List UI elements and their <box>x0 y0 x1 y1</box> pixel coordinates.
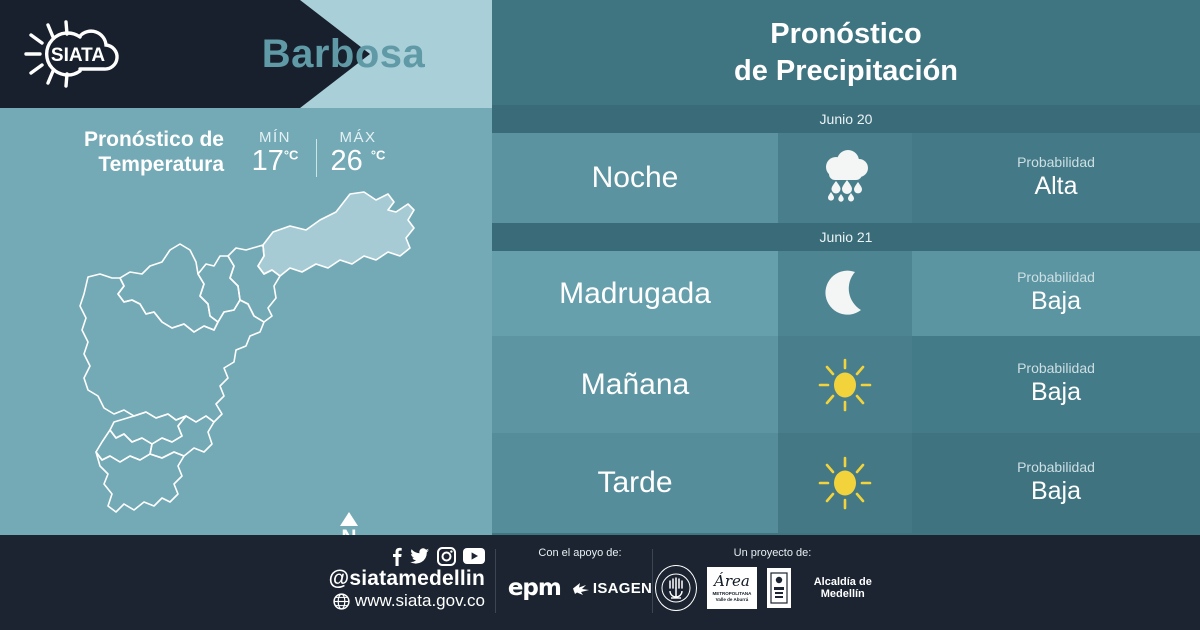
temperature-values: MÍN 17°C MÁX 26 °C <box>238 129 395 177</box>
rain-cloud-icon <box>814 147 876 209</box>
temperature-max-value: 26 °C <box>331 146 386 176</box>
temperature-min-value: 17°C <box>252 146 299 176</box>
temperature-min-unit: °C <box>284 147 299 162</box>
support-logos: epm ISAGEN <box>505 575 655 601</box>
footer-divider-1 <box>495 549 496 613</box>
probability-value: Baja <box>1031 286 1081 317</box>
map-region-n3 <box>118 244 218 332</box>
social-block: @siatamedellin www.siata.gov.co <box>300 545 485 612</box>
project-logos: Área METROPOLITANA Valle de Aburrá <box>655 565 890 611</box>
forecast-header: Pronóstico de Precipitación <box>492 0 1200 105</box>
area-sub-text: METROPOLITANA Valle de Aburrá <box>712 591 751 602</box>
globe-icon <box>333 593 350 610</box>
compass-arrow <box>340 512 358 526</box>
left-panel: SIATA Barbosa Pronóstico de Temperatura … <box>0 0 492 535</box>
seal-emblem-icon <box>659 571 693 605</box>
temperature-min: MÍN 17°C <box>238 129 312 176</box>
map-region-s3 <box>150 416 214 458</box>
forecast-row: Noche <box>492 133 1200 223</box>
twitter-icon[interactable] <box>410 546 430 566</box>
alcaldia-emblem-icon <box>769 571 789 605</box>
isagen-logo: ISAGEN <box>573 580 652 597</box>
isagen-text: ISAGEN <box>593 580 652 597</box>
map-region-barbosa <box>258 192 414 276</box>
footer: @siatamedellin www.siata.gov.co Con el a… <box>0 535 1200 630</box>
temperature-max-unit: °C <box>371 147 386 162</box>
temperature-block: Pronóstico de Temperatura MÍN 17°C MÁX 2… <box>0 118 492 188</box>
alcaldia-label: Alcaldía de Medellín <box>796 576 890 600</box>
area-metropolitana-logo: Área METROPOLITANA Valle de Aburrá <box>707 567 758 609</box>
isagen-mark-icon <box>573 581 590 596</box>
forecast-row: Tarde Probabilid <box>492 433 1200 533</box>
map-region-n2 <box>198 256 240 322</box>
forecast-probability-cell: Probabilidad Baja <box>912 433 1200 533</box>
temperature-title-line2: Temperatura <box>0 153 224 178</box>
date-band-junio-20: Junio 20 <box>492 105 1200 133</box>
forecast-period: Noche <box>492 133 778 223</box>
forecast-probability-cell: Probabilidad Baja <box>912 251 1200 336</box>
probability-label: Probabilidad <box>1017 269 1095 286</box>
area-sub-line2: Valle de Aburrá <box>712 597 751 603</box>
website-text: www.siata.gov.co <box>355 591 485 611</box>
probability-value: Baja <box>1031 476 1081 507</box>
date-band-junio-21: Junio 21 <box>492 223 1200 251</box>
forecast-title: Pronóstico de Precipitación <box>734 16 958 89</box>
probability-value: Baja <box>1031 377 1081 408</box>
forecast-icon-cell <box>778 133 912 223</box>
support-caption: Con el apoyo de: <box>505 547 655 559</box>
area-sub-line1: METROPOLITANA <box>712 591 751 597</box>
area-script-text: Área <box>714 574 750 589</box>
youtube-icon[interactable] <box>463 548 485 564</box>
footer-divider-2 <box>652 549 653 613</box>
siata-logo-text: SIATA <box>51 45 105 66</box>
probability-label: Probabilidad <box>1017 459 1095 476</box>
forecast-probability-cell: Probabilidad Alta <box>912 133 1200 223</box>
temperature-max: MÁX 26 °C <box>321 129 395 176</box>
project-block: Un proyecto de: <box>655 547 890 611</box>
forecast-icon-cell <box>778 336 912 433</box>
map-region-s4 <box>96 452 184 512</box>
forecast-period: Mañana <box>492 336 778 433</box>
forecast-row: Madrugada Probabilidad Baja <box>492 251 1200 336</box>
website-line[interactable]: www.siata.gov.co <box>300 591 485 611</box>
crescent-moon-icon <box>817 266 873 322</box>
map-svg <box>58 182 448 532</box>
temperature-min-number: 17 <box>252 145 284 177</box>
temperature-min-label: MÍN <box>259 129 291 146</box>
instagram-icon[interactable] <box>437 547 456 566</box>
temperature-title-line1: Pronóstico de <box>0 128 224 153</box>
epm-logo: epm <box>508 575 561 601</box>
social-handle[interactable]: @siatamedellin <box>300 567 485 591</box>
forecast-row: Mañana Probabili <box>492 336 1200 433</box>
aburra-valley-map: N <box>58 182 448 532</box>
probability-label: Probabilidad <box>1017 154 1095 171</box>
forecast-icon-cell <box>778 433 912 533</box>
social-icons <box>300 545 485 567</box>
map-region-s1 <box>110 412 186 444</box>
forecast-period: Madrugada <box>492 251 778 336</box>
project-caption: Un proyecto de: <box>655 547 890 559</box>
temperature-divider <box>316 139 317 177</box>
forecast-period: Tarde <box>492 433 778 533</box>
forecast-title-line2: de Precipitación <box>734 53 958 89</box>
temperature-max-label: MÁX <box>339 129 376 146</box>
weather-forecast-infographic: SIATA Barbosa Pronóstico de Temperatura … <box>0 0 1200 630</box>
support-block: Con el apoyo de: epm ISAGEN <box>505 547 655 601</box>
forecast-probability-cell: Probabilidad Baja <box>912 336 1200 433</box>
universidad-seal-icon <box>655 565 697 611</box>
alcaldia-logo: Alcaldía de Medellín <box>767 568 890 608</box>
sun-icon <box>815 453 875 513</box>
facebook-icon[interactable] <box>390 546 403 566</box>
forecast-icon-cell <box>778 251 912 336</box>
right-panel: Pronóstico de Precipitación Junio 20 Noc… <box>492 0 1200 535</box>
city-name: Barbosa <box>195 0 492 108</box>
left-header: SIATA Barbosa <box>0 0 492 108</box>
probability-value: Alta <box>1034 171 1077 202</box>
sun-cloud-icon: SIATA <box>18 14 138 94</box>
forecast-title-line1: Pronóstico <box>734 16 958 52</box>
probability-label: Probabilidad <box>1017 360 1095 377</box>
temperature-max-number: 26 <box>331 145 363 177</box>
temperature-title: Pronóstico de Temperatura <box>0 128 238 178</box>
alcaldia-mark-icon <box>767 568 790 608</box>
map-region-m1 <box>80 274 264 422</box>
sun-icon <box>815 355 875 415</box>
